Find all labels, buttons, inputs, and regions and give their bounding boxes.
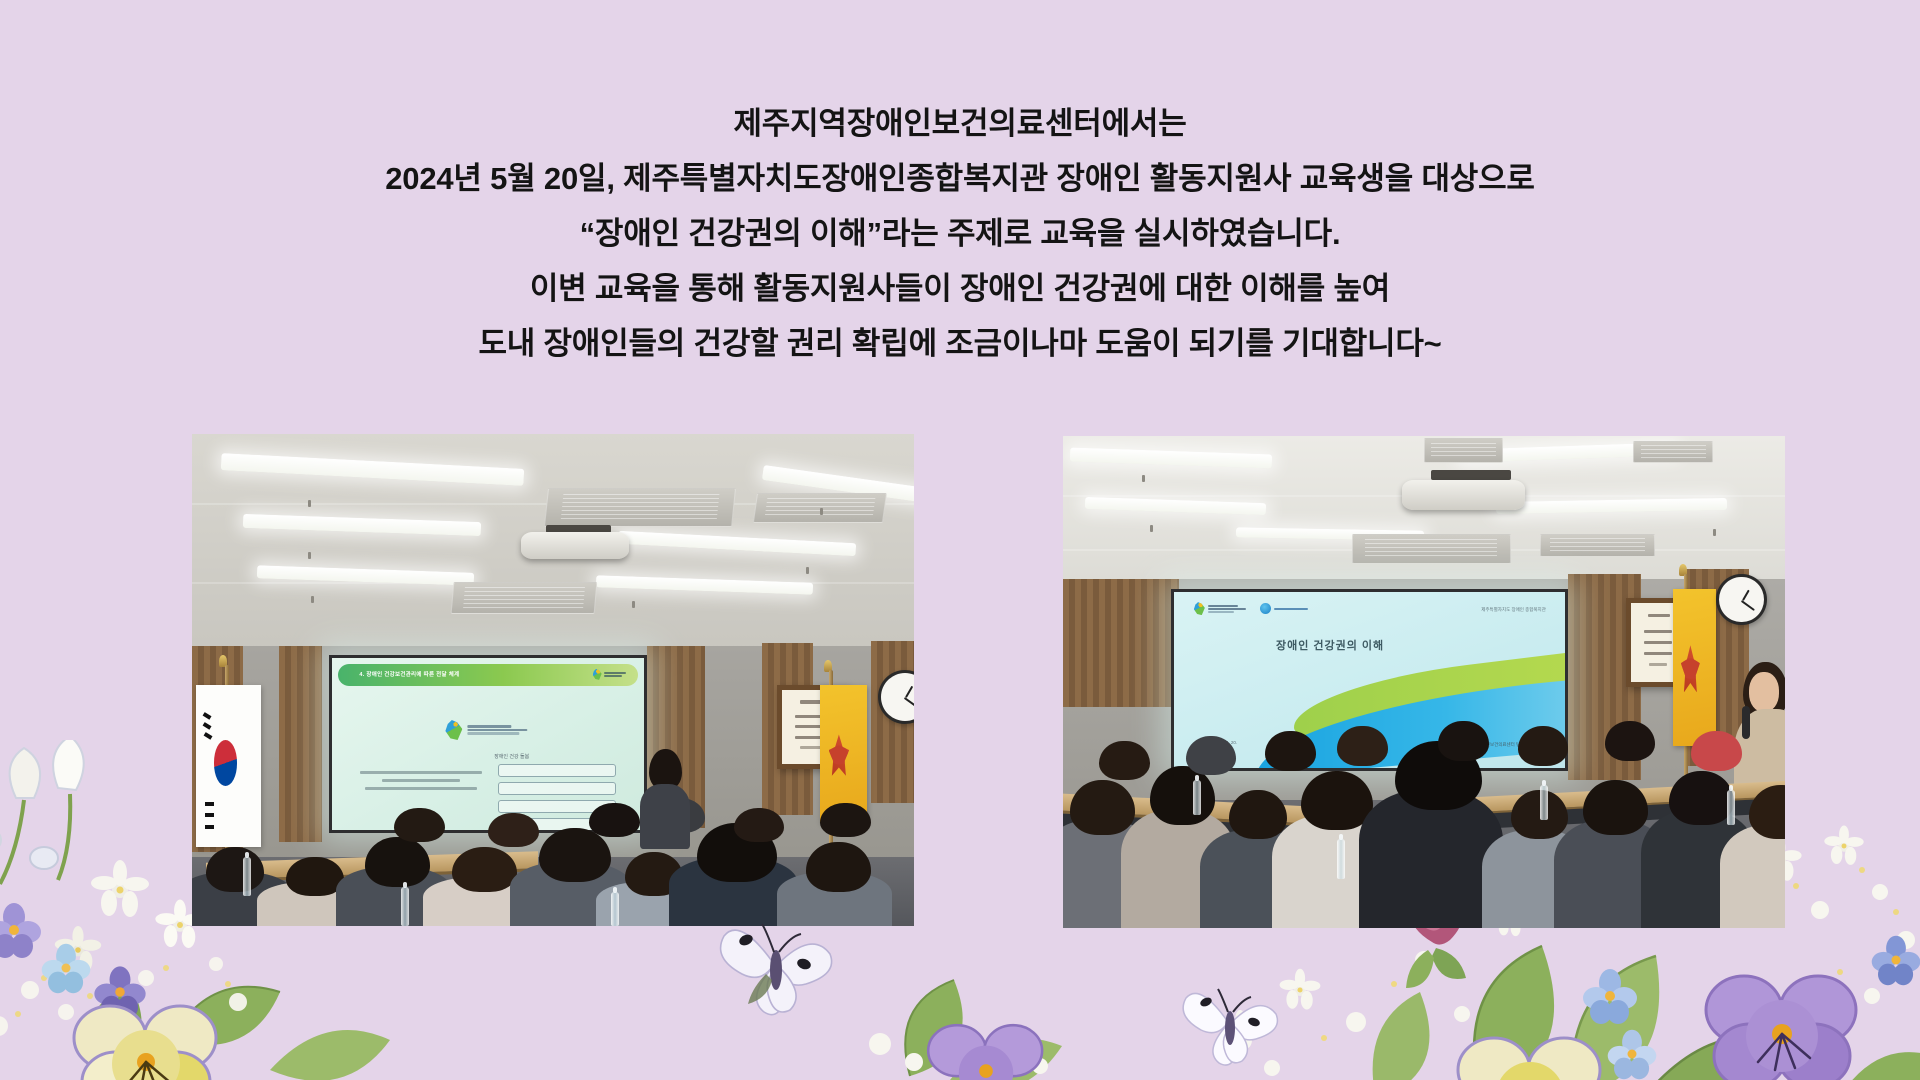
leaf-group (1373, 946, 1920, 1080)
logo-wordmark (467, 725, 527, 735)
jeju-flag (820, 685, 867, 823)
trigram (204, 732, 213, 740)
sprinkler (820, 508, 823, 515)
pansy-lavender-large (1706, 976, 1856, 1080)
audience-head (452, 847, 517, 891)
slide-paragraph (360, 771, 482, 790)
violet-cluster (0, 903, 146, 1019)
audience-head (1438, 721, 1489, 760)
ac-vent (1352, 534, 1511, 564)
baby-breath (0, 946, 247, 1036)
sprinkler (308, 552, 311, 559)
audience-head (394, 808, 445, 842)
audience-head (806, 842, 871, 891)
antennae (1218, 989, 1251, 1012)
trigram (205, 825, 214, 829)
sprinkler (1713, 529, 1716, 536)
audience-head (365, 837, 430, 886)
audience-head (820, 803, 871, 837)
sprinkler (806, 567, 809, 574)
logo-wordmark (604, 672, 626, 677)
pansy-lavender (928, 1025, 1042, 1080)
leaf-group (85, 984, 390, 1080)
trigram (202, 712, 211, 720)
hospital-logo-icon (1260, 603, 1271, 614)
wood-panel (279, 646, 322, 843)
audience-head (1186, 736, 1237, 775)
projector-mount (1431, 470, 1510, 480)
audience-head (1691, 731, 1742, 770)
butterfly-icon-left (716, 912, 836, 1022)
water-bottle (1727, 790, 1735, 824)
presenter (640, 749, 691, 847)
violet-cluster (1583, 936, 1920, 1079)
trigram (205, 813, 214, 817)
audience-head (539, 828, 611, 882)
water-bottle (1337, 839, 1345, 878)
trigram (203, 722, 212, 730)
water-bottle (243, 857, 251, 896)
slide-header-text: 4. 장애인 건강보건관리에 따른 전달 체계 (359, 670, 459, 678)
audience-head (1070, 780, 1135, 834)
slide-header-bar: 4. 장애인 건강보건관리에 따른 전달 체계 (338, 664, 637, 686)
logo-wordmark (1274, 608, 1308, 610)
taegeuk-symbol (214, 740, 237, 785)
logo-wordmark (1208, 605, 1246, 613)
audience-head (589, 803, 640, 837)
sprinkler (632, 601, 635, 608)
water-bottle (1540, 785, 1548, 819)
presenter-face (1749, 672, 1779, 712)
text-line-3: “장애인 건강권의 이해”라는 주제로 교육을 실시하였습니다. (0, 206, 1920, 261)
stamen-dots (15, 965, 231, 1017)
audience-head (286, 857, 344, 896)
antennae (762, 924, 801, 952)
slide-box-item (498, 764, 616, 777)
leaf-group (905, 980, 1062, 1080)
pansy-cream (74, 1006, 216, 1080)
audience-head (1605, 721, 1656, 760)
center-logo-icon (593, 669, 602, 680)
water-bottle (401, 887, 409, 926)
text-line-1: 제주지역장애인보건의료센터에서는 (0, 96, 1920, 151)
pansy-cream-large (1458, 1038, 1600, 1080)
ac-vent (1424, 438, 1503, 463)
wood-panel (1063, 579, 1179, 707)
photo-left-seminar-room: 4. 장애인 건강보건관리에 따른 전달 체계 장애인 건강 돌봄 (192, 434, 914, 926)
butterfly-icon-center (1180, 978, 1280, 1070)
ac-vent (451, 582, 598, 614)
slide-top-note: 제주특별자치도 장애인 종합복지관 (1481, 607, 1546, 613)
jeju-flag (1673, 589, 1716, 746)
korean-flag (196, 685, 261, 847)
audience-head (1583, 780, 1648, 834)
center-logo-icon (1194, 602, 1205, 615)
wall-clock (1716, 574, 1767, 626)
text-line-4: 이변 교육을 통해 활동지원사들이 장애인 건강권에 대한 이해를 높여 (0, 261, 1920, 316)
sprinkler (308, 500, 311, 507)
sprinkler (1150, 525, 1153, 532)
center-logo-icon (445, 720, 462, 740)
tulip-group (0, 740, 84, 884)
ac-vent (544, 488, 736, 527)
presenter-body (640, 784, 691, 849)
slide-box-item (498, 782, 616, 795)
audience-head (1518, 726, 1569, 765)
audience-head (1229, 790, 1287, 839)
audience-head (206, 847, 264, 891)
audience-head (1337, 726, 1388, 765)
slide-center-logo (445, 720, 527, 740)
water-bottle (611, 892, 619, 926)
sprinkler (311, 596, 314, 603)
white-flower-cluster (869, 1033, 1048, 1074)
microphone (1742, 706, 1750, 739)
slide-title: 장애인 건강권의 이해 (1276, 637, 1384, 653)
slide-logo-row (1194, 602, 1308, 615)
water-bottle (1193, 780, 1201, 814)
poster-canvas: 제주지역장애인보건의료센터에서는 2024년 5월 20일, 제주특별자치도장애… (0, 0, 1920, 1080)
ac-vent (1633, 441, 1712, 463)
photo-right-lecture: 제주특별자치도 장애인 종합복지관 장애인 건강권의 이해 2024. 5. 2… (1063, 436, 1785, 928)
text-line-2: 2024년 5월 20일, 제주특별자치도장애인종합복지관 장애인 활동지원사 … (0, 151, 1920, 206)
projector (521, 532, 629, 559)
projector (1402, 480, 1525, 510)
announcement-text: 제주지역장애인보건의료센터에서는 2024년 5월 20일, 제주특별자치도장애… (0, 96, 1920, 371)
audience-head (734, 808, 785, 842)
slide-corner-logo (593, 669, 626, 680)
audience-head (1265, 731, 1316, 770)
slide-subtitle: 장애인 건강 돌봄 (494, 753, 529, 760)
audience-head (488, 813, 539, 847)
audience-head (1099, 741, 1150, 780)
sprinkler (1142, 475, 1145, 482)
text-line-5: 도내 장애인들의 건강할 권리 확립에 조금이나마 도움이 되기를 기대합니다~ (0, 316, 1920, 371)
audience-body (1720, 825, 1785, 928)
trigram (205, 802, 214, 806)
ac-vent (1540, 534, 1656, 556)
